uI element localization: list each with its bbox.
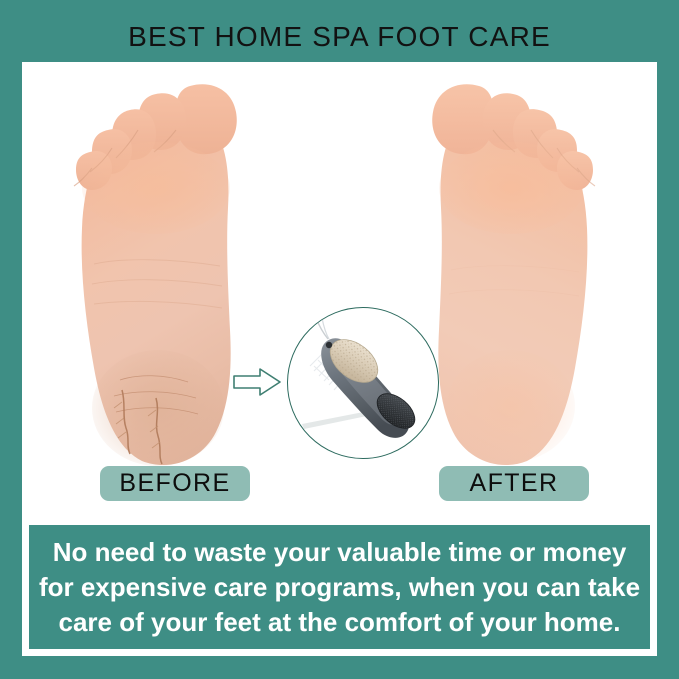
caption-box: No need to waste your valuable time or m…	[29, 525, 650, 649]
page-title: BEST HOME SPA FOOT CARE	[0, 20, 679, 54]
caption-panel: No need to waste your valuable time or m…	[22, 518, 657, 656]
after-label-badge: AFTER	[439, 466, 589, 501]
arrow-right-icon	[231, 365, 283, 399]
product-infographic-poster: BEST HOME SPA FOOT CARE	[0, 0, 679, 679]
before-label-badge: BEFORE	[100, 466, 250, 501]
after-foot-image	[417, 70, 613, 470]
comparison-photo-panel: BEFORE AFTER	[22, 62, 657, 518]
before-foot-image	[60, 68, 268, 472]
caption-text: No need to waste your valuable time or m…	[29, 535, 650, 640]
